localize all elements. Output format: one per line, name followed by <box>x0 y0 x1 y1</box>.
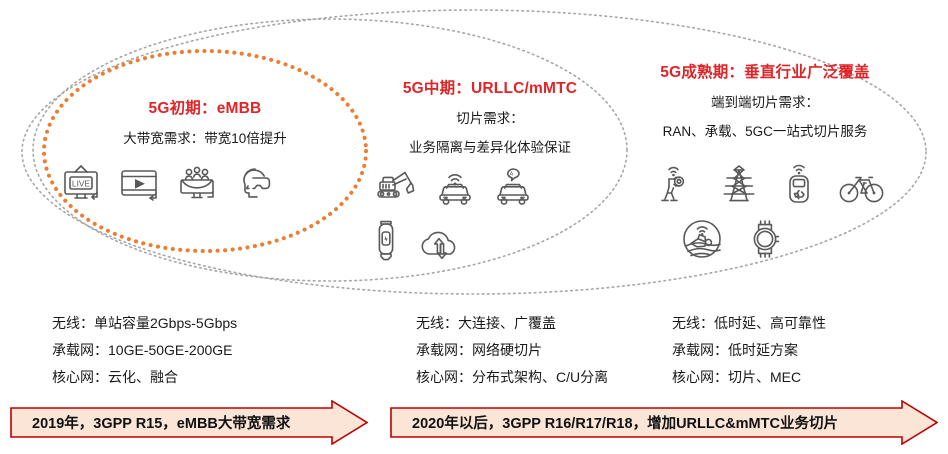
column-mature: 无线：低时延、高可靠性 承载网：低时延方案 核心网：切片、MEC <box>672 310 826 391</box>
smart-agriculture-icon <box>679 216 725 262</box>
smart-bin-icon <box>783 162 815 206</box>
vr-headset-icon <box>234 162 276 204</box>
phase-mature-icons-row2 <box>666 216 796 262</box>
column-embb-line-1: 承载网：10GE-50GE-200GE <box>52 337 237 364</box>
phase-mature-sub2: RAN、承载、5GC一站式切片服务 <box>615 120 915 140</box>
phase-embb-sub1: 大带宽需求：带宽10倍提升 <box>60 127 350 147</box>
phase-embb: 5G初期：eMBB 大带宽需求：带宽10倍提升 <box>60 96 350 147</box>
phase-mature-sub1: 端到端切片需求： <box>615 91 915 111</box>
phase-urllc-sub1: 切片需求： <box>355 107 625 127</box>
column-mature-line-1: 承载网：低时延方案 <box>672 337 826 364</box>
column-embb-line-2: 核心网：云化、融合 <box>52 364 237 391</box>
connected-car-icon <box>433 168 477 208</box>
phase-embb-title-cn: 5G初期： <box>149 100 217 117</box>
live-tv-icon: LIVE <box>60 162 102 204</box>
smart-watch-icon <box>747 216 783 262</box>
phase-embb-title-en: eMBB <box>217 100 262 117</box>
phase-mature-title: 5G成熟期：垂直行业广泛覆盖 <box>615 60 915 82</box>
phase-urllc-title-cn: 5G中期： <box>403 80 471 97</box>
inner-ellipse-embb <box>44 51 366 251</box>
video-conference-icon <box>176 162 218 204</box>
banner-2020-text: 2020年以后，3GPP R16/R17/R18，增加URLLC&mMTC业务切… <box>390 400 948 445</box>
banner-2020[interactable]: 2020年以后，3GPP R16/R17/R18，增加URLLC&mMTC业务切… <box>390 400 938 445</box>
column-urllc-line-0: 无线：大连接、广覆盖 <box>416 310 608 337</box>
banner-2019-text: 2019年，3GPP R15，eMBB大带宽需求 <box>10 400 390 445</box>
phase-urllc-icons-row1: A <box>360 168 550 208</box>
power-pylon-icon <box>719 162 759 206</box>
cloud-sync-icon <box>417 222 463 262</box>
phase-mature-title-en: 垂直行业广泛覆盖 <box>744 64 870 81</box>
v2x-car-icon: A <box>491 168 535 208</box>
phase-mature-title-cn: 5G成熟期： <box>660 64 744 81</box>
bicycle-icon <box>839 166 885 206</box>
phase-mature: 5G成熟期：垂直行业广泛覆盖 端到端切片需求： RAN、承载、5GC一站式切片服… <box>615 60 915 140</box>
column-urllc-line-2: 核心网：分布式架构、C/U分离 <box>416 364 608 391</box>
excavator-icon <box>375 168 419 208</box>
phase-urllc-title: 5G中期：URLLC/mMTC <box>355 76 625 98</box>
svg-text:LIVE: LIVE <box>71 178 90 188</box>
phase-urllc-sub2: 业务隔离与差异化体验保证 <box>355 136 625 156</box>
phase-urllc-icons-row2 <box>358 218 478 262</box>
phase-embb-title: 5G初期：eMBB <box>60 96 350 118</box>
column-mature-line-2: 核心网：切片、MEC <box>672 364 826 391</box>
column-embb-line-0: 无线：单站容量2Gbps-5Gbps <box>52 310 237 337</box>
banner-2019[interactable]: 2019年，3GPP R15，eMBB大带宽需求 <box>10 400 368 445</box>
video-player-icon <box>118 162 160 204</box>
robot-arm-icon <box>655 162 695 206</box>
column-mature-line-0: 无线：低时延、高可靠性 <box>672 310 826 337</box>
column-urllc-line-1: 承载网：网络硬切片 <box>416 337 608 364</box>
svg-text:A: A <box>510 172 514 178</box>
slide-canvas: 5G初期：eMBB 大带宽需求：带宽10倍提升 LIVE <box>0 0 948 454</box>
phase-urllc: 5G中期：URLLC/mMTC 切片需求： 业务隔离与差异化体验保证 <box>355 76 625 156</box>
phase-mature-icons-row1 <box>645 162 895 206</box>
column-urllc: 无线：大连接、广覆盖 承载网：网络硬切片 核心网：分布式架构、C/U分离 <box>416 310 608 391</box>
phase-embb-icons: LIVE <box>55 162 280 204</box>
fitness-band-icon <box>373 218 399 262</box>
column-embb: 无线：单站容量2Gbps-5Gbps 承载网：10GE-50GE-200GE 核… <box>52 310 237 391</box>
phase-urllc-title-en: URLLC/mMTC <box>471 80 577 97</box>
